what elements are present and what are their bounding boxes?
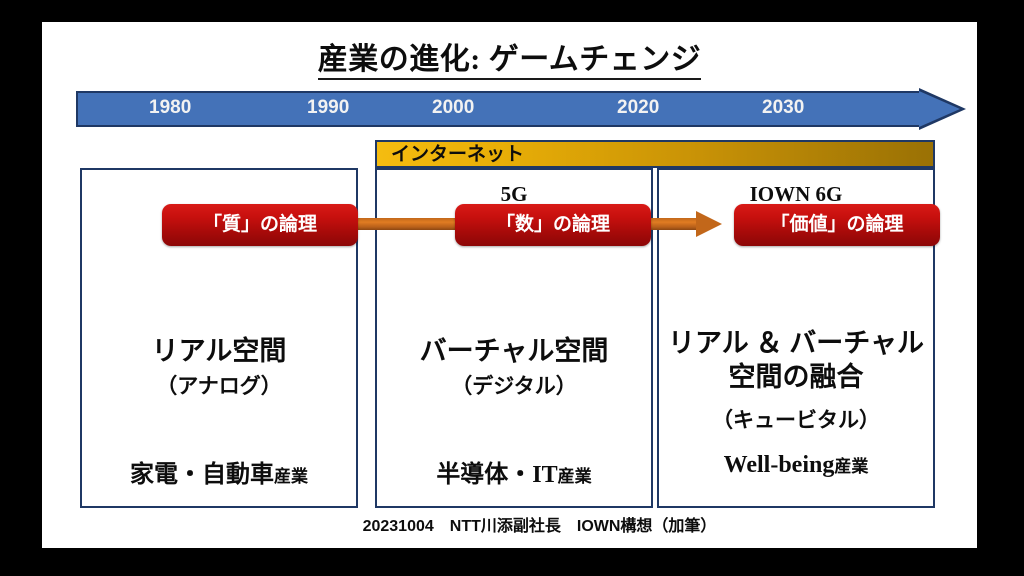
evolution-arrow-head: [696, 211, 722, 237]
column2-space-sub: （デジタル）: [377, 370, 651, 400]
timeline-year-1990: 1990: [307, 97, 349, 119]
column3-industry: Well-being産業: [659, 452, 933, 479]
column2-industry-main: 半導体・IT: [436, 462, 557, 488]
column3-space-sub: （キュービタル）: [659, 404, 933, 434]
column1-space-sub: （アナログ）: [82, 370, 356, 400]
internet-era-bar: インターネット: [375, 140, 935, 168]
logic-badge-value: 「価値」の論理: [734, 204, 940, 246]
column1-industry-main: 家電・自動車: [130, 462, 274, 488]
column2-space-name: バーチャル空間: [377, 334, 651, 368]
logic-badge-quantity: 「数」の論理: [455, 204, 651, 246]
column1-industry-suffix: 産業: [274, 467, 308, 486]
timeline-arrow-tip: [919, 91, 960, 127]
column3-space-name-line2: 空間の融合: [659, 360, 933, 394]
timeline-year-2020: 2020: [617, 97, 659, 119]
page-title-text: 産業の進化: ゲームチェンジ: [318, 43, 702, 80]
timeline-year-2030: 2030: [762, 97, 804, 119]
logic-badge-quality-label: 「質」の論理: [162, 204, 358, 246]
column2-industry: 半導体・IT産業: [377, 454, 651, 489]
column1-industry: 家電・自動車産業: [82, 454, 356, 489]
timeline-year-2000: 2000: [432, 97, 474, 119]
column3-industry-main: Well-being: [724, 452, 835, 478]
logic-badge-quality: 「質」の論理: [162, 204, 358, 246]
column2-industry-suffix: 産業: [558, 467, 592, 486]
column1-space-name: リアル空間: [82, 334, 356, 368]
logic-badge-value-label: 「価値」の論理: [734, 204, 940, 246]
source-caption: 20231004 NTT川添副社長 IOWN構想（加筆）: [42, 512, 977, 536]
timeline-year-1980: 1980: [149, 97, 191, 119]
column3-industry-suffix: 産業: [834, 457, 868, 476]
column3-space-name-line1: リアル ＆ バーチャル: [659, 326, 933, 360]
column3-space-name: リアル ＆ バーチャル空間の融合: [659, 326, 933, 394]
internet-era-label: インターネット: [391, 143, 524, 167]
logic-badge-quantity-label: 「数」の論理: [455, 204, 651, 246]
page-title: 産業の進化: ゲームチェンジ: [42, 34, 977, 78]
slide-area: 産業の進化: ゲームチェンジ 1980 1990 2000 2020 2030 …: [42, 22, 977, 548]
slide-canvas: 産業の進化: ゲームチェンジ 1980 1990 2000 2020 2030 …: [0, 0, 1024, 576]
timeline-arrow: 1980 1990 2000 2020 2030: [76, 91, 966, 127]
